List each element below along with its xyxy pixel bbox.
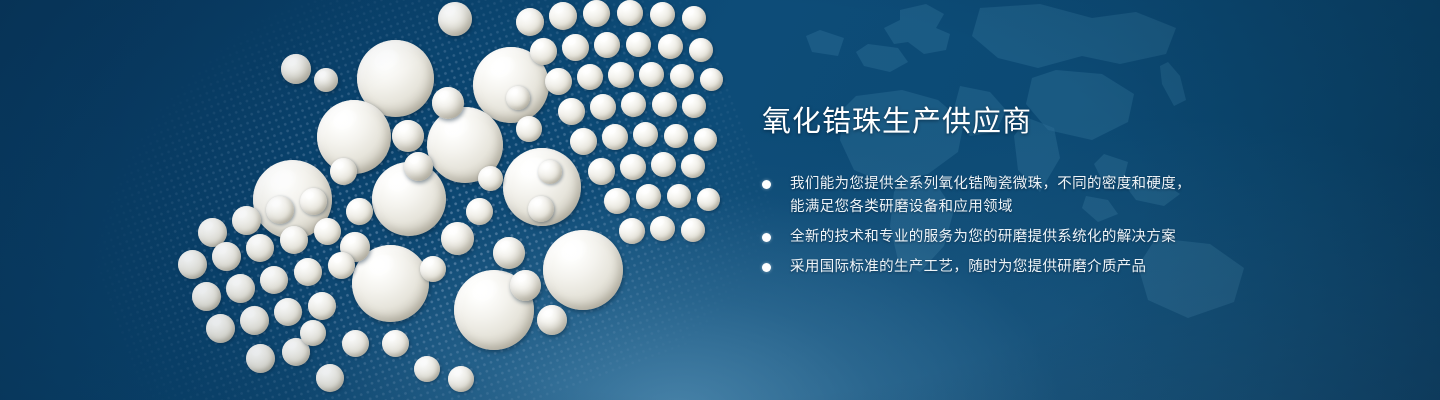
bead-small — [670, 64, 694, 88]
bead-medium — [392, 120, 424, 152]
bead-small — [682, 94, 706, 118]
feature-list: 我们能为您提供全系列氧化锆陶瓷微珠，不同的密度和硬度， 能满足您各类研磨设备和应… — [762, 173, 1322, 279]
bead-small — [516, 116, 542, 142]
bead-small — [652, 92, 677, 117]
bead-small — [300, 188, 327, 215]
list-item: 全新的技术和专业的服务为您的研磨提供系统化的解决方案 — [762, 226, 1322, 249]
bead-medium — [438, 2, 472, 36]
bead-small — [650, 2, 675, 27]
list-item-line: 我们能为您提供全系列氧化锆陶瓷微珠，不同的密度和硬度， — [790, 173, 1322, 196]
bead-medium — [281, 54, 311, 84]
bead-small — [562, 34, 589, 61]
bead-small — [466, 198, 493, 225]
bead-small — [478, 166, 503, 191]
bead-small — [516, 8, 544, 36]
bullet-dot-icon — [762, 180, 771, 189]
bead-small — [342, 330, 369, 357]
bead-small — [420, 256, 446, 282]
bead-medium — [510, 270, 541, 301]
bead-small — [636, 184, 661, 209]
bead-small — [226, 274, 255, 303]
bead-small — [667, 184, 691, 208]
bead-small — [178, 250, 207, 279]
bead-small — [308, 292, 336, 320]
bead-small — [316, 364, 344, 392]
bead-small — [602, 124, 628, 150]
bead-small — [274, 298, 302, 326]
bead-small — [538, 160, 562, 184]
page-title: 氧化锆珠生产供应商 — [762, 104, 1322, 141]
bead-small — [212, 242, 241, 271]
bead-small — [658, 34, 683, 59]
bead-small — [639, 62, 664, 87]
hero-banner: 氧化锆珠生产供应商 我们能为您提供全系列氧化锆陶瓷微珠，不同的密度和硬度， 能满… — [0, 0, 1440, 400]
bead-small — [448, 366, 474, 392]
bead-small — [689, 38, 713, 62]
bead-small — [620, 154, 646, 180]
bead-small — [192, 282, 221, 311]
bead-small — [240, 306, 269, 335]
bead-small — [260, 266, 288, 294]
bead-small — [232, 206, 261, 235]
zirconia-beads-image — [0, 0, 760, 400]
bead-medium — [537, 305, 567, 335]
bead-small — [633, 122, 658, 147]
bead-small — [545, 68, 572, 95]
list-item-line: 能满足您各类研磨设备和应用领域 — [790, 196, 1322, 219]
list-item-line: 全新的技术和专业的服务为您的研磨提供系统化的解决方案 — [790, 226, 1322, 249]
bead-small — [280, 226, 308, 254]
bead-small — [314, 218, 341, 245]
bead-small — [528, 196, 554, 222]
bead-small — [617, 0, 643, 26]
bead-small — [588, 158, 615, 185]
bead-small — [664, 124, 688, 148]
bead-large — [543, 230, 623, 310]
bead-small — [330, 158, 357, 185]
bullet-dot-icon — [762, 233, 771, 242]
bead-medium — [432, 87, 464, 119]
list-item-line: 采用国际标准的生产工艺，随时为您提供研磨介质产品 — [790, 256, 1322, 279]
bead-medium — [493, 237, 525, 269]
list-item: 我们能为您提供全系列氧化锆陶瓷微珠，不同的密度和硬度， 能满足您各类研磨设备和应… — [762, 173, 1322, 219]
bead-small — [382, 330, 409, 357]
bead-small — [681, 218, 705, 242]
bead-small — [506, 86, 530, 110]
bead-small — [650, 216, 675, 241]
bead-small — [697, 188, 720, 211]
bead-medium — [314, 68, 338, 92]
bead-small — [604, 188, 630, 214]
bead-small — [608, 62, 634, 88]
banner-copy: 氧化锆珠生产供应商 我们能为您提供全系列氧化锆陶瓷微珠，不同的密度和硬度， 能满… — [762, 104, 1322, 279]
bead-small — [549, 2, 577, 30]
bead-small — [414, 356, 440, 382]
bead-small — [246, 344, 275, 373]
bead-small — [619, 218, 645, 244]
bead-small — [300, 320, 326, 346]
bead-small — [246, 234, 274, 262]
bead-small — [530, 38, 557, 65]
bead-small — [570, 128, 597, 155]
bead-small — [590, 94, 616, 120]
bead-small — [594, 32, 620, 58]
bead-small — [346, 198, 373, 225]
bead-small — [682, 6, 706, 30]
bead-small — [328, 252, 355, 279]
bead-small — [700, 68, 723, 91]
bead-medium — [441, 222, 474, 255]
bead-small — [294, 258, 322, 286]
bead-small — [206, 314, 235, 343]
bead-small — [577, 64, 603, 90]
list-item: 采用国际标准的生产工艺，随时为您提供研磨介质产品 — [762, 256, 1322, 279]
bead-small — [266, 196, 294, 224]
bead-small — [651, 152, 676, 177]
bead-small — [694, 128, 717, 151]
bead-small — [626, 32, 651, 57]
bullet-dot-icon — [762, 263, 771, 272]
bead-medium — [404, 152, 433, 181]
bead-small — [681, 154, 705, 178]
bead-small — [558, 98, 585, 125]
bead-small — [621, 92, 646, 117]
bead-small — [583, 0, 610, 27]
